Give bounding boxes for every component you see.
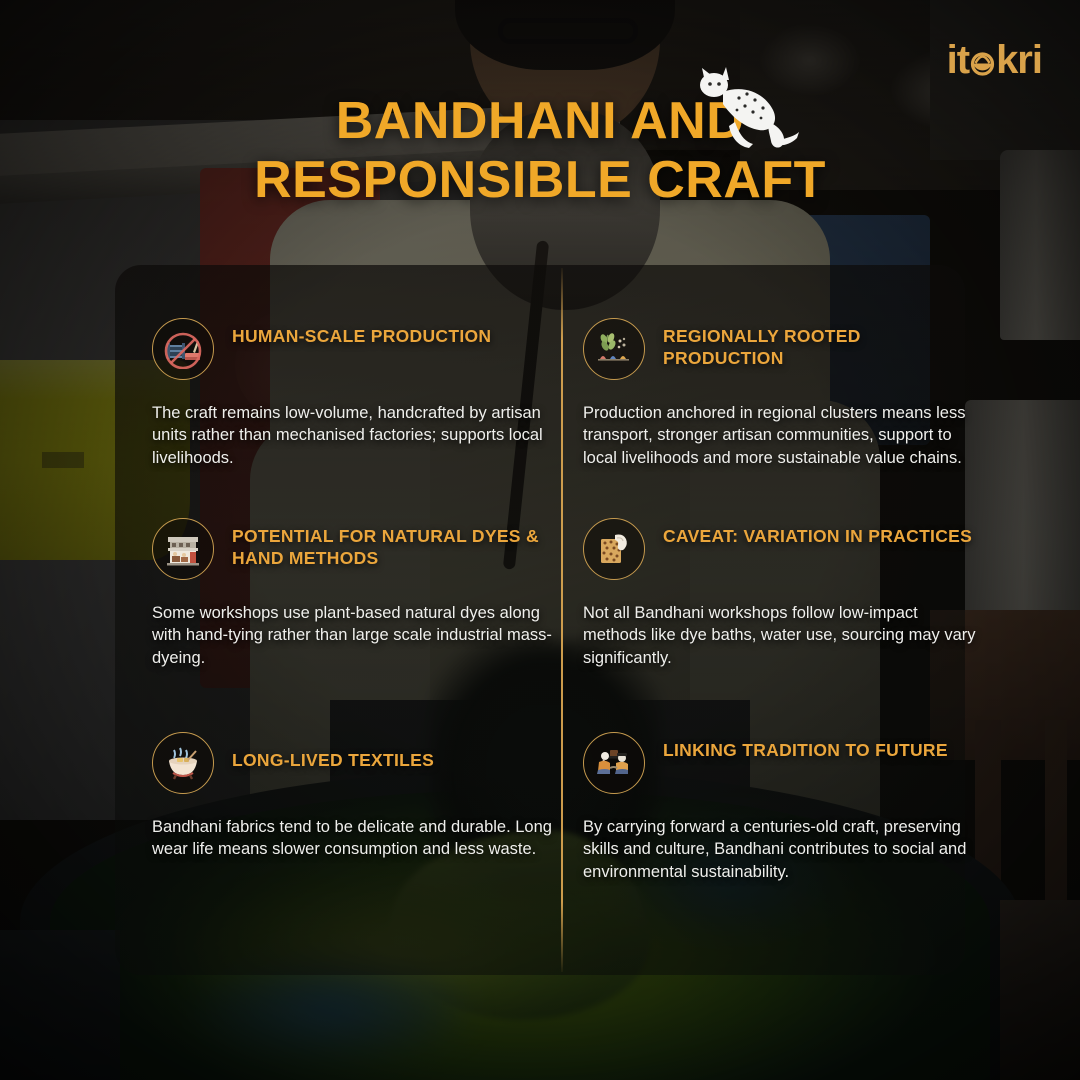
card-body: The craft remains low-volume, handcrafte… <box>152 402 552 469</box>
artisan-workshop-building-icon <box>152 518 214 580</box>
plant-leaves-dye-mounds-icon <box>583 318 645 380</box>
card-body: Bandhani fabrics tend to be delicate and… <box>152 816 552 861</box>
hand-holding-patterned-fabric-icon <box>583 518 645 580</box>
white-cat-icon <box>683 52 801 152</box>
card-title: CAVEAT: VARIATION IN PRACTICES <box>663 518 972 548</box>
card-linking-tradition-to-future: LINKING TRADITION TO FUTURE By carrying … <box>583 732 983 883</box>
card-long-lived-textiles: LONG-LIVED TEXTILES Bandhani fabrics ten… <box>152 732 552 861</box>
logo-text-kri: kri <box>996 40 1042 80</box>
no-factory-machine-icon <box>152 318 214 380</box>
card-caveat-variation-in-practices: CAVEAT: VARIATION IN PRACTICES Not all B… <box>583 518 983 669</box>
card-title: LONG-LIVED TEXTILES <box>232 732 434 772</box>
card-human-scale-production: HUMAN-SCALE PRODUCTION The craft remains… <box>152 318 552 469</box>
title-line-2: RESPONSIBLE CRAFT <box>254 151 826 209</box>
page-title: BANDHANI AND RESPONSIBLE CRAFT <box>0 92 1080 210</box>
card-body: Some workshops use plant-based natural d… <box>152 602 552 669</box>
two-seated-artisans-icon <box>583 732 645 794</box>
card-body: Production anchored in regional clusters… <box>583 402 983 469</box>
steaming-dye-pot-icon <box>152 732 214 794</box>
card-body: Not all Bandhani workshops follow low-im… <box>583 602 983 669</box>
card-title: REGIONALLY ROOTED PRODUCTION <box>663 318 983 370</box>
card-potential-for-natural-dyes: POTENTIAL FOR NATURAL DYES & HAND METHOD… <box>152 518 552 669</box>
logo-text-it: it <box>947 40 969 80</box>
card-title: POTENTIAL FOR NATURAL DYES & HAND METHOD… <box>232 518 552 570</box>
column-divider <box>561 268 563 972</box>
logo-basket-o-icon <box>970 48 995 73</box>
card-title: HUMAN-SCALE PRODUCTION <box>232 318 491 348</box>
card-regionally-rooted-production: REGIONALLY ROOTED PRODUCTION Production … <box>583 318 983 469</box>
card-body: By carrying forward a centuries-old craf… <box>583 816 983 883</box>
card-title: LINKING TRADITION TO FUTURE <box>663 732 948 762</box>
brand-logo[interactable]: it kri <box>947 40 1042 80</box>
